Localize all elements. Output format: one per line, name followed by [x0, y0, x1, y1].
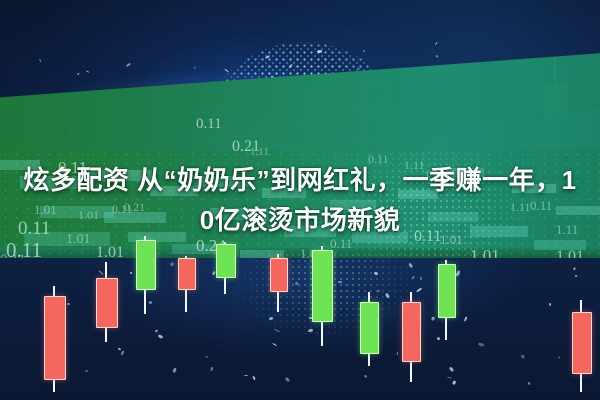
headline-line-1: 炫多配资 从“奶奶乐”到网红礼，一季赚一年，1: [0, 160, 600, 200]
candlestick: [44, 286, 64, 392]
candlestick: [216, 242, 234, 294]
banner-image: 0.111.010.110.111.011.011.010.110.110.21…: [0, 0, 600, 400]
candlestick: [438, 260, 454, 340]
page-title: 炫多配资 从“奶奶乐”到网红礼，一季赚一年，1 0亿滚烫市场新貌: [0, 160, 600, 240]
particle: [549, 303, 551, 306]
candlestick: [96, 262, 116, 342]
particle: [67, 303, 70, 305]
candlestick: [360, 292, 377, 366]
candlestick: [312, 246, 331, 346]
candlestick: [572, 300, 590, 392]
candle-body: [438, 264, 456, 318]
headline-line-2: 0亿滚烫市场新貌: [0, 200, 600, 240]
candle-body: [136, 240, 156, 290]
candle-body: [312, 250, 333, 322]
candle-body: [178, 258, 196, 290]
candle-body: [270, 258, 288, 292]
candle-body: [402, 302, 421, 362]
data-rectangle: [534, 240, 586, 250]
candlestick: [402, 292, 419, 382]
candle-body: [96, 278, 118, 328]
candlestick: [136, 236, 154, 314]
candlestick: [270, 254, 286, 312]
candle-body: [572, 312, 592, 374]
particle: [317, 49, 322, 52]
bottom-edge: [0, 392, 600, 400]
candlestick: [178, 256, 194, 312]
candle-body: [216, 244, 236, 278]
candle-body: [360, 302, 379, 354]
candle-body: [44, 296, 66, 380]
